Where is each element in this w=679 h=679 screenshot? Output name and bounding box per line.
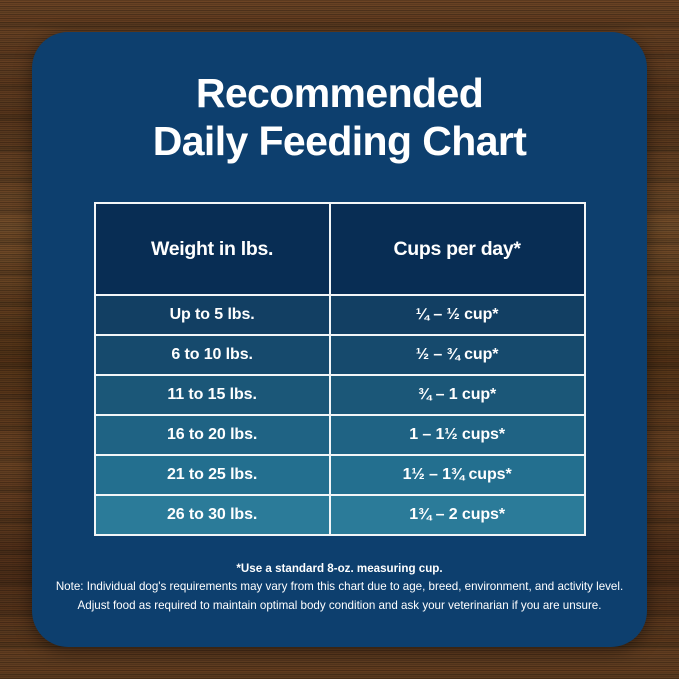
table-row: 26 to 30 lbs. 1¾ – 2 cups* bbox=[95, 495, 585, 535]
cell-weight: Up to 5 lbs. bbox=[95, 295, 330, 335]
footnotes: *Use a standard 8-oz. measuring cup. Not… bbox=[50, 560, 630, 615]
feeding-chart-card: Recommended Daily Feeding Chart Weight i… bbox=[32, 32, 647, 647]
title-line-2: Daily Feeding Chart bbox=[70, 118, 610, 166]
feeding-table: Weight in lbs. Cups per day* Up to 5 lbs… bbox=[94, 202, 586, 536]
cell-weight: 16 to 20 lbs. bbox=[95, 415, 330, 455]
column-header-weight: Weight in lbs. bbox=[95, 203, 330, 295]
cell-cups: ¼ – ½ cup* bbox=[330, 295, 585, 335]
table-row: 16 to 20 lbs. 1 – 1½ cups* bbox=[95, 415, 585, 455]
footnote-adjust: Adjust food as required to maintain opti… bbox=[50, 597, 630, 615]
cell-weight: 11 to 15 lbs. bbox=[95, 375, 330, 415]
cell-weight: 21 to 25 lbs. bbox=[95, 455, 330, 495]
table-row: Up to 5 lbs. ¼ – ½ cup* bbox=[95, 295, 585, 335]
cell-cups: ¾ – 1 cup* bbox=[330, 375, 585, 415]
cell-cups: ½ – ¾ cup* bbox=[330, 335, 585, 375]
column-header-cups: Cups per day* bbox=[330, 203, 585, 295]
footnote-note: Note: Individual dog's requirements may … bbox=[50, 578, 630, 596]
cell-weight: 26 to 30 lbs. bbox=[95, 495, 330, 535]
table-header-row: Weight in lbs. Cups per day* bbox=[95, 203, 585, 295]
table-row: 11 to 15 lbs. ¾ – 1 cup* bbox=[95, 375, 585, 415]
table-header: Weight in lbs. Cups per day* bbox=[95, 203, 585, 295]
cell-weight: 6 to 10 lbs. bbox=[95, 335, 330, 375]
table-body: Up to 5 lbs. ¼ – ½ cup* 6 to 10 lbs. ½ –… bbox=[95, 295, 585, 535]
table-row: 21 to 25 lbs. 1½ – 1¾ cups* bbox=[95, 455, 585, 495]
footnote-measuring-cup: *Use a standard 8-oz. measuring cup. bbox=[50, 560, 630, 578]
cell-cups: 1½ – 1¾ cups* bbox=[330, 455, 585, 495]
table-row: 6 to 10 lbs. ½ – ¾ cup* bbox=[95, 335, 585, 375]
cell-cups: 1¾ – 2 cups* bbox=[330, 495, 585, 535]
title-line-1: Recommended bbox=[70, 70, 610, 118]
page-title: Recommended Daily Feeding Chart bbox=[70, 70, 610, 165]
cell-cups: 1 – 1½ cups* bbox=[330, 415, 585, 455]
